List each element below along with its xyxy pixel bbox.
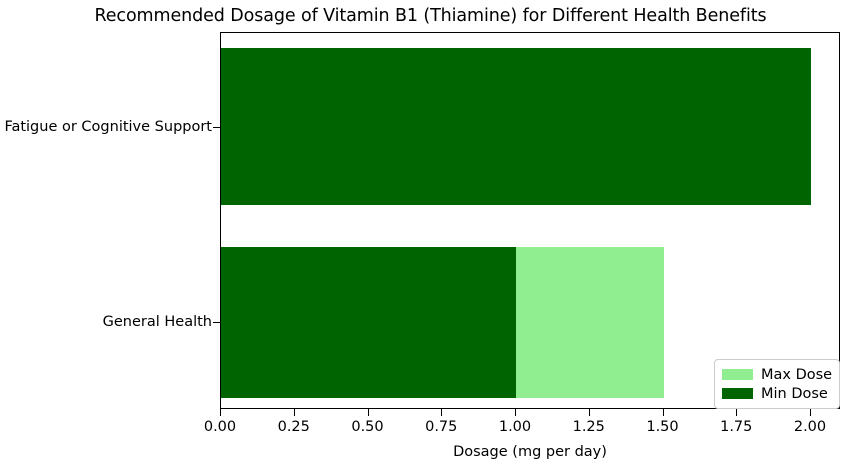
x-tick-label-8: 2.00 (794, 419, 826, 435)
x-tick-mark-3 (441, 409, 442, 416)
x-tick-label-2: 0.50 (351, 419, 383, 435)
x-tick-label-6: 1.50 (646, 419, 678, 435)
y-tick-label-fatigue-or-cognitive-support: Fatigue or Cognitive Support (4, 119, 212, 135)
x-tick-mark-1 (294, 409, 295, 416)
x-tick-label-3: 0.75 (425, 419, 457, 435)
chart-legend: Max Dose Min Dose (714, 359, 840, 409)
x-tick-label-1: 0.25 (278, 419, 310, 435)
bar-min-dose-general-health (221, 247, 516, 398)
x-tick-label-4: 1.00 (499, 419, 531, 435)
x-tick-label-7: 1.75 (720, 419, 752, 435)
bar-min-dose-fatigue-or-cognitive-support (221, 48, 811, 205)
bars-layer (221, 33, 839, 408)
x-tick-mark-4 (515, 409, 516, 416)
legend-item-max-dose: Max Dose (722, 365, 832, 384)
chart-title: Recommended Dosage of Vitamin B1 (Thiami… (0, 6, 861, 26)
chart-figure: Recommended Dosage of Vitamin B1 (Thiami… (0, 0, 861, 470)
x-tick-label-5: 1.25 (573, 419, 605, 435)
x-axis-label: Dosage (mg per day) (220, 444, 840, 460)
legend-swatch-min-dose (722, 388, 753, 399)
y-tick-mark-fatigue-or-cognitive-support (213, 127, 220, 128)
x-tick-mark-2 (368, 409, 369, 416)
legend-item-min-dose: Min Dose (722, 384, 832, 403)
y-tick-mark-general-health (213, 322, 220, 323)
legend-swatch-max-dose (722, 369, 753, 380)
plot-area (220, 32, 840, 409)
y-tick-label-general-health: General Health (103, 314, 212, 330)
x-tick-mark-5 (589, 409, 590, 416)
y-axis-tick-labels: Fatigue or Cognitive Support General Hea… (0, 32, 212, 409)
x-tick-mark-0 (220, 409, 221, 416)
x-tick-mark-6 (663, 409, 664, 416)
x-tick-label-0: 0.00 (204, 419, 236, 435)
x-tick-mark-7 (736, 409, 737, 416)
x-tick-mark-8 (810, 409, 811, 416)
legend-label-max-dose: Max Dose (761, 367, 832, 383)
legend-label-min-dose: Min Dose (761, 386, 828, 402)
